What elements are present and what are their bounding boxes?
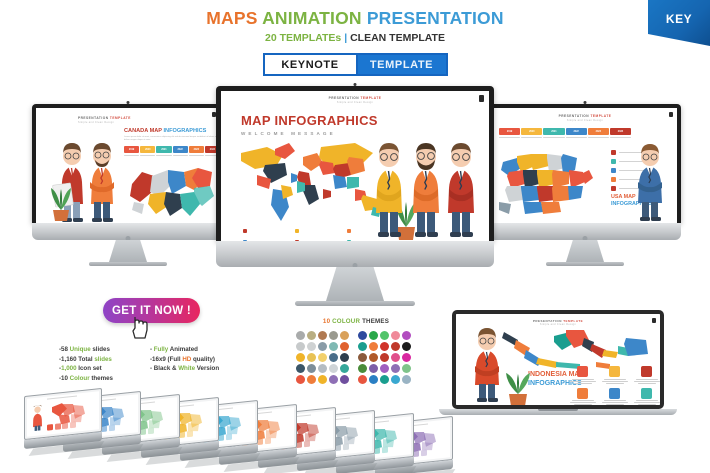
- world-welcome: WELCOME MESSAGE: [241, 131, 378, 136]
- colour-swatch[interactable]: [391, 364, 400, 373]
- colour-swatch[interactable]: [380, 375, 389, 384]
- monitor-right-chin: [489, 223, 681, 240]
- subtitle-clean-template: CLEAN TEMPLATE: [350, 32, 445, 44]
- year-tab-caption: [588, 137, 609, 138]
- colour-swatch[interactable]: [391, 353, 400, 362]
- feature-suffix: quality): [191, 356, 215, 363]
- slide-tag-left: PRESENTATION TEMPLATE: [78, 116, 131, 120]
- get-it-now-button[interactable]: GET IT NOW !: [103, 298, 200, 323]
- card-line: [572, 379, 594, 380]
- colour-swatch[interactable]: [329, 353, 338, 362]
- monitor-center-bezel: PRESENTATION TEMPLATE Simple and Clean D…: [216, 86, 494, 241]
- page-marker-icon: [652, 318, 656, 323]
- indonesia-card-grid[interactable]: [568, 366, 660, 405]
- feature-item: -10 Colour themes: [59, 374, 113, 384]
- page-subtitle: 20 TEMPLATEs | CLEAN TEMPLATE: [0, 32, 710, 44]
- card-icon: [609, 366, 620, 377]
- monitor-left-bezel: PRESENTATION TEMPLATE Simple and Clean D…: [32, 104, 224, 223]
- feature-accent: 1,000: [61, 365, 76, 372]
- colour-swatch[interactable]: [340, 353, 349, 362]
- feature-suffix: Icon set: [77, 365, 102, 372]
- year-tab-2022[interactable]: 2022: [566, 128, 587, 135]
- theme-thumbnail-row[interactable]: [24, 392, 424, 462]
- themes-title: 10 COLOUR THEMES: [296, 318, 416, 325]
- feature-suffix: Animated: [168, 346, 198, 353]
- year-tab-caption: [610, 137, 631, 138]
- year-tab-caption: [140, 155, 155, 156]
- indonesia-card[interactable]: [632, 388, 660, 405]
- swatch-grid-muted[interactable]: [296, 331, 349, 384]
- monitor-right-bezel: PRESENTATION TEMPLATE Simple and Clean D…: [489, 104, 681, 223]
- feature-accent: HD: [182, 356, 191, 363]
- monitor-right-stand: [566, 240, 604, 262]
- colour-swatch[interactable]: [369, 364, 378, 373]
- colour-swatch[interactable]: [391, 331, 400, 340]
- indonesia-card[interactable]: [632, 366, 660, 385]
- card-line: [602, 402, 628, 403]
- monitor-center-stand: [326, 267, 384, 301]
- card-line: [634, 402, 660, 403]
- year-tab-2023[interactable]: 2023: [189, 146, 204, 153]
- thumbnail-icon: [226, 434, 232, 441]
- colour-swatch[interactable]: [358, 353, 367, 362]
- themes-colour-word: COLOUR: [330, 318, 360, 325]
- thumbnail-icon: [70, 422, 76, 429]
- colour-swatch[interactable]: [340, 364, 349, 373]
- usa-year-tabs[interactable]: 201920202021202220232024: [499, 128, 631, 138]
- feature-item: -58 Unique slides: [59, 345, 113, 355]
- thumbnail-icon: [62, 422, 68, 429]
- thumbnail-icon: [55, 423, 61, 430]
- monitor-left-stand: [109, 240, 147, 262]
- year-tab-label: 2019: [507, 130, 512, 133]
- laptop-indonesia: PRESENTATION TEMPLATE Simple and Clean D…: [452, 310, 664, 415]
- feature-accent: White: [178, 365, 195, 372]
- colour-swatch[interactable]: [296, 364, 305, 373]
- card-icon: [577, 388, 588, 399]
- year-tab-label: 2024: [618, 130, 623, 133]
- colour-swatch[interactable]: [358, 331, 367, 340]
- card-line: [572, 400, 594, 401]
- colour-swatch[interactable]: [340, 331, 349, 340]
- year-tab-caption: [543, 137, 564, 138]
- thumbnail-icon: [382, 446, 388, 453]
- year-tab-2023[interactable]: 2023: [588, 128, 609, 135]
- monitor-right-screen[interactable]: PRESENTATION TEMPLATE Simple and Clean D…: [493, 108, 677, 223]
- card-icon: [641, 388, 652, 399]
- year-tab-caption: [566, 137, 587, 138]
- legend-swatch-icon: [243, 229, 247, 233]
- character-trio-illustration: [369, 133, 481, 241]
- card-icon: [609, 388, 620, 399]
- thumbnail-icon: [421, 450, 427, 457]
- colour-swatch[interactable]: [369, 375, 378, 384]
- plant-illustration: [48, 184, 74, 222]
- monitor-left-chin: [32, 223, 224, 240]
- legend-swatch-icon: [295, 229, 299, 233]
- feature-prefix: -10: [59, 375, 70, 382]
- legend-swatch-icon: [347, 229, 351, 233]
- colour-swatch[interactable]: [307, 353, 316, 362]
- feature-accent: Fully: [154, 346, 168, 353]
- colour-swatch[interactable]: [380, 331, 389, 340]
- colour-swatch[interactable]: [402, 364, 411, 373]
- colour-swatch[interactable]: [402, 342, 411, 351]
- feature-item: -1,160 Total slides: [59, 355, 113, 365]
- world-heading: MAP INFOGRAPHICS WELCOME MESSAGE: [241, 113, 378, 136]
- camera-icon: [584, 101, 587, 104]
- year-tab-2021[interactable]: 2021: [156, 146, 171, 153]
- colour-swatch[interactable]: [307, 342, 316, 351]
- colour-swatch[interactable]: [391, 375, 400, 384]
- canada-map[interactable]: [128, 158, 220, 220]
- usa-bullet-icon: [611, 159, 616, 164]
- year-tab-label: 2023: [596, 130, 601, 133]
- year-tab-2021[interactable]: 2021: [543, 128, 564, 135]
- card-line: [638, 383, 656, 384]
- legend-item: [243, 229, 291, 235]
- colour-swatch[interactable]: [296, 353, 305, 362]
- monitor-center-chin: [216, 241, 494, 267]
- slide-tag-center: PRESENTATION TEMPLATE: [221, 96, 489, 100]
- year-tab-label: 2019: [129, 148, 134, 151]
- character-illustration: [629, 138, 671, 222]
- feature-suffix: Version: [195, 365, 219, 372]
- thumbnail-character-icon: [32, 405, 43, 432]
- card-line: [638, 404, 656, 405]
- usa-bullet-icon: [611, 186, 616, 191]
- feature-prefix: -16x9 (Full: [150, 356, 182, 363]
- laptop-lid: PRESENTATION TEMPLATE Simple and Clean D…: [452, 310, 664, 409]
- year-tab-caption: [189, 155, 204, 156]
- indonesia-card[interactable]: [600, 388, 629, 405]
- year-tab-label: 2021: [161, 148, 166, 151]
- colour-swatch[interactable]: [318, 353, 327, 362]
- keynote-button[interactable]: KEYNOTE: [265, 55, 358, 74]
- year-tab-label: 2024: [210, 148, 215, 151]
- card-line: [574, 383, 592, 384]
- laptop-screen[interactable]: PRESENTATION TEMPLATE Simple and Clean D…: [456, 314, 660, 405]
- feature-prefix: -1,160 Total: [59, 356, 93, 363]
- monitor-left-screen[interactable]: PRESENTATION TEMPLATE Simple and Clean D…: [36, 108, 220, 223]
- colour-swatch[interactable]: [318, 364, 327, 373]
- slide-subtag-left: Simple and Clean Design: [78, 121, 114, 124]
- colour-swatch[interactable]: [369, 342, 378, 351]
- colour-swatch[interactable]: [358, 342, 367, 351]
- canada-year-tabs[interactable]: 201920202021202220232024: [124, 146, 220, 156]
- title-part-animation: ANIMATION: [262, 8, 362, 28]
- thumbnail-icon: [304, 440, 310, 447]
- feature-accent: slides: [93, 356, 112, 363]
- camera-icon: [354, 83, 357, 86]
- year-tab-caption: [173, 155, 188, 156]
- themes-word: THEMES: [360, 318, 389, 325]
- feature-accent: Colour: [70, 375, 90, 382]
- colour-swatch[interactable]: [402, 353, 411, 362]
- card-line: [574, 404, 592, 405]
- colour-swatch[interactable]: [380, 364, 389, 373]
- theme-thumbnail[interactable]: [24, 392, 102, 452]
- indonesia-card[interactable]: [568, 388, 597, 405]
- usa-bullet-icon: [611, 177, 616, 182]
- monitor-center: PRESENTATION TEMPLATE Simple and Clean D…: [216, 86, 494, 306]
- colour-swatch[interactable]: [296, 342, 305, 351]
- colour-swatch[interactable]: [369, 353, 378, 362]
- card-line: [606, 404, 624, 405]
- card-line: [634, 381, 660, 382]
- colour-swatch[interactable]: [318, 331, 327, 340]
- canada-body: Lorem ipsum dolor sit amet, consectetur …: [124, 136, 220, 142]
- title-part-maps: MAPS: [206, 8, 257, 28]
- slide-subtag-right: Simple and Clean Design: [493, 119, 677, 122]
- canada-title: CANADA MAP INFOGRAPHICS: [124, 128, 206, 134]
- get-it-now-label: GET IT NOW !: [112, 305, 191, 317]
- colour-swatch[interactable]: [307, 331, 316, 340]
- colour-swatch[interactable]: [340, 375, 349, 384]
- title-part-presentation: PRESENTATION: [367, 8, 504, 28]
- colour-swatch[interactable]: [358, 364, 367, 373]
- year-tab-2019[interactable]: 2019: [499, 128, 520, 135]
- usa-map[interactable]: [497, 146, 603, 218]
- slide-world: PRESENTATION TEMPLATE Simple and Clean D…: [221, 91, 489, 241]
- page-marker-icon: [669, 112, 673, 117]
- feature-suffix: slides: [91, 346, 110, 353]
- card-line: [604, 400, 626, 401]
- slide-usa: PRESENTATION TEMPLATE Simple and Clean D…: [493, 108, 677, 223]
- plant-illustration: [504, 372, 532, 405]
- template-button[interactable]: TEMPLATE: [358, 55, 446, 74]
- subtitle-separator: |: [344, 32, 347, 44]
- year-tab-caption: [124, 155, 139, 156]
- card-line: [602, 381, 628, 382]
- colour-swatch[interactable]: [402, 375, 411, 384]
- world-title: MAP INFOGRAPHICS: [241, 113, 378, 128]
- legend-item: [295, 229, 343, 235]
- colour-swatch[interactable]: [329, 375, 338, 384]
- card-line: [570, 402, 596, 403]
- thumbnail-icon: [109, 425, 115, 432]
- colour-swatch[interactable]: [329, 342, 338, 351]
- poster-canvas: KEY MAPS ANIMATION PRESENTATION 20 TEMPL…: [0, 0, 710, 473]
- feature-item: - Black & White Version: [150, 364, 219, 374]
- colour-swatch[interactable]: [296, 331, 305, 340]
- colour-swatch[interactable]: [307, 364, 316, 373]
- year-tab-label: 2023: [194, 148, 199, 151]
- year-tab-label: 2020: [145, 148, 150, 151]
- thumbnail-icon: [148, 428, 154, 435]
- indonesia-card[interactable]: [568, 366, 597, 385]
- colour-theme-swatches[interactable]: [296, 331, 411, 384]
- poster-header: MAPS ANIMATION PRESENTATION 20 TEMPLATEs…: [0, 8, 710, 76]
- slide-tag-right: PRESENTATION TEMPLATE: [493, 114, 677, 118]
- laptop-base: [439, 409, 677, 415]
- colour-swatch[interactable]: [391, 342, 400, 351]
- feature-list-right: - Fully Animated-16x9 (Full HD quality)-…: [150, 345, 219, 374]
- usa-bullet-icon: [611, 150, 616, 155]
- card-line: [604, 379, 626, 380]
- year-tab-2019[interactable]: 2019: [124, 146, 139, 153]
- feature-suffix: themes: [90, 375, 113, 382]
- card-line: [570, 381, 596, 382]
- slide-indonesia: PRESENTATION TEMPLATE Simple and Clean D…: [456, 314, 660, 405]
- year-tab-2020[interactable]: 2020: [140, 146, 155, 153]
- thumbnail-icon: [187, 431, 193, 438]
- colour-swatch[interactable]: [318, 375, 327, 384]
- thumbnail-icon: [265, 437, 271, 444]
- year-tab-label: 2021: [551, 130, 556, 133]
- monitor-center-screen[interactable]: PRESENTATION TEMPLATE Simple and Clean D…: [221, 91, 489, 241]
- monitor-center-foot: [295, 301, 415, 306]
- feature-item: - Fully Animated: [150, 345, 219, 355]
- card-icon: [641, 366, 652, 377]
- year-tab-caption: [521, 137, 542, 138]
- colour-swatch[interactable]: [380, 342, 389, 351]
- colour-swatch[interactable]: [358, 375, 367, 384]
- year-tab-caption: [156, 155, 171, 156]
- year-tab-label: 2022: [573, 130, 578, 133]
- indonesia-card[interactable]: [600, 366, 629, 385]
- page-marker-icon: [479, 95, 484, 102]
- feature-prefix: -58: [59, 346, 70, 353]
- colour-swatch[interactable]: [340, 342, 349, 351]
- year-tab-label: 2020: [529, 130, 534, 133]
- slide-canada: PRESENTATION TEMPLATE Simple and Clean D…: [36, 108, 220, 223]
- colour-swatch[interactable]: [380, 353, 389, 362]
- thumbnail-screen[interactable]: [27, 391, 99, 437]
- hand-cursor-icon: [129, 315, 149, 339]
- subtitle-template-count: 20 TEMPLATEs: [265, 32, 341, 44]
- character-illustration: [466, 324, 508, 404]
- colour-swatch[interactable]: [402, 331, 411, 340]
- year-tab-label: 2022: [177, 148, 182, 151]
- card-line: [636, 379, 658, 380]
- card-line: [636, 400, 658, 401]
- year-tab-caption: [499, 137, 520, 138]
- swatch-grid-vivid[interactable]: [358, 331, 411, 384]
- monitor-left-foot: [89, 262, 167, 266]
- colour-swatch[interactable]: [296, 375, 305, 384]
- year-tab-2022[interactable]: 2022: [173, 146, 188, 153]
- slide-subtag-center: Simple and Clean Design: [221, 101, 489, 104]
- feature-accent: Unique: [70, 346, 91, 353]
- colour-swatch[interactable]: [318, 342, 327, 351]
- year-tab-2024[interactable]: 2024: [610, 128, 631, 135]
- colour-swatch[interactable]: [307, 375, 316, 384]
- colour-swatch[interactable]: [369, 331, 378, 340]
- year-tab-2020[interactable]: 2020: [521, 128, 542, 135]
- usa-bullet-icon: [611, 168, 616, 173]
- feature-list-left: -58 Unique slides-1,160 Total slides-1,0…: [59, 345, 113, 383]
- monitor-right-foot: [546, 262, 624, 266]
- colour-swatch[interactable]: [329, 331, 338, 340]
- thumbnail-icon: [343, 443, 349, 450]
- format-toggle[interactable]: KEYNOTE TEMPLATE: [263, 53, 448, 76]
- card-line: [606, 383, 624, 384]
- feature-item: -16x9 (Full HD quality): [150, 355, 219, 365]
- feature-item: -1,000 Icon set: [59, 364, 113, 374]
- thumbnail-icon: [47, 424, 53, 431]
- page-title: MAPS ANIMATION PRESENTATION: [0, 8, 710, 29]
- card-icon: [577, 366, 588, 377]
- feature-prefix: - Black &: [150, 365, 178, 372]
- colour-swatch[interactable]: [329, 364, 338, 373]
- camera-icon: [127, 101, 130, 104]
- monitor-left: PRESENTATION TEMPLATE Simple and Clean D…: [32, 104, 224, 266]
- monitor-right: PRESENTATION TEMPLATE Simple and Clean D…: [489, 104, 681, 266]
